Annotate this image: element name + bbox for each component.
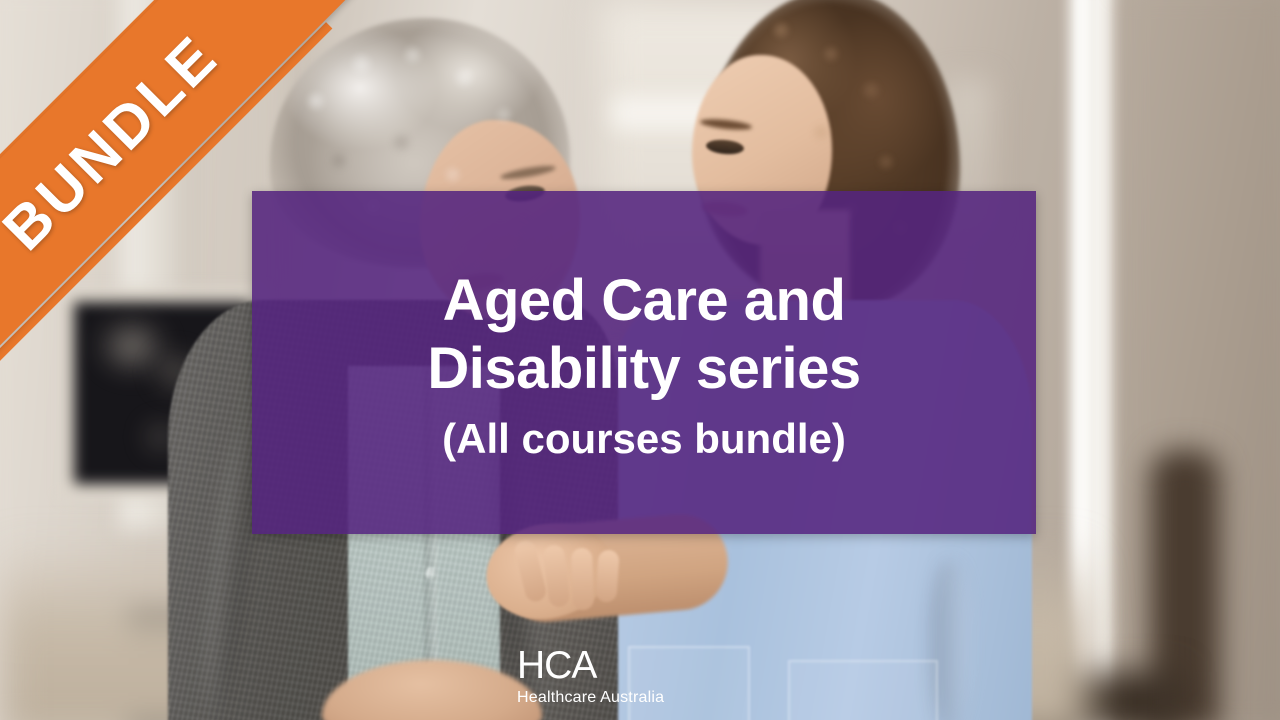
course-subtitle: (All courses bundle) (442, 414, 846, 464)
title-banner: Aged Care and Disability series (All cou… (252, 191, 1036, 534)
blind-slat (1100, 0, 1107, 720)
hca-logo-wordmark: Healthcare Australia (517, 690, 664, 706)
hca-logo: HCA Healthcare Australia (517, 646, 664, 706)
course-title-line-1: Aged Care and (443, 267, 846, 335)
title-banner-content: Aged Care and Disability series (All cou… (252, 191, 1036, 534)
course-title-line-2: Disability series (427, 335, 860, 403)
caregiver-finger (595, 549, 620, 602)
hca-logo-mark: HCA (517, 646, 664, 685)
course-card-image[interactable]: BUNDLE Aged Care and Disability series (… (0, 0, 1280, 720)
caregiver-finger (571, 548, 594, 611)
scrubs-pocket (788, 660, 938, 720)
